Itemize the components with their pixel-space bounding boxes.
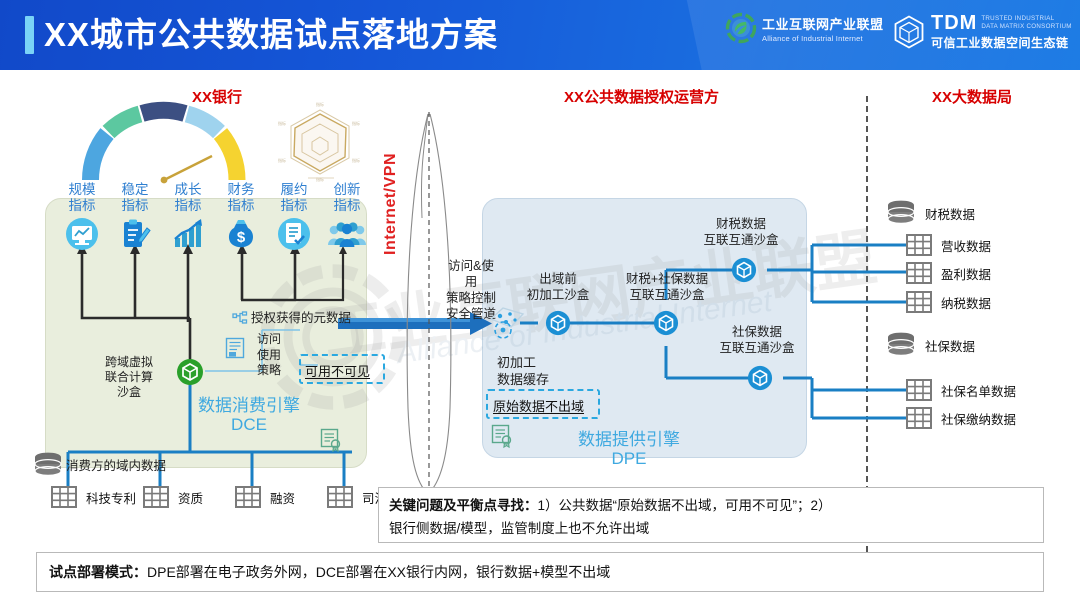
sandbox3-line1: 社保数据 [706,324,808,340]
consumer-domain-data-label: 消费方的域内数据 [66,459,166,474]
sandbox-social-label: 社保数据 互联互通沙盒 [706,324,808,356]
monitor-chart-icon [55,216,109,252]
bureau-table-label-0-0: 营收数据 [941,236,991,255]
indicator-scale-line1: 规模 [55,182,109,198]
logo-alliance-of-industrial-internet: 工业互联网产业联盟 Alliance of Industrial Interne… [726,13,884,43]
sandbox-fiscal-social-label: 财税+社保数据 互联互通沙盒 [612,271,722,303]
key-issues-label: 关键问题及平衡点寻找： [389,498,538,513]
data-node-network-icon [488,305,526,341]
gauge-chart [78,104,250,186]
indicator-innovation-line1: 创新 [320,182,374,198]
deployment-mode-label: 试点部署模式： [49,564,147,580]
database-icon [886,200,916,226]
indicator-growth-line2: 指标 [161,198,215,214]
indicator-stability-line2: 指标 [108,198,162,214]
sandbox-pre-exit-label: 出域前 初加工沙盒 [512,271,604,303]
dce-engine-label: 数据消费引擎 DCE [198,396,300,434]
table-icon [906,379,932,401]
page-title: XX城市公共数据试点落地方案 [44,9,498,61]
bureau-db-fiscal[interactable]: 财税数据 [886,200,975,226]
cache-line1: 初加工 [497,354,549,371]
metadata-tree-icon [232,311,248,327]
bureau-db-label-0: 财税数据 [925,204,975,223]
consumer-domain-db-icon [33,452,63,478]
sandbox2-line1: 财税数据 [690,216,792,232]
preprocess-cache-label: 初加工 数据缓存 [497,354,549,388]
cache-line2: 数据缓存 [497,371,549,388]
bureau-table-revenue[interactable]: 营收数据 [906,234,991,256]
bureau-table-social-roster[interactable]: 社保名单数据 [906,379,1016,401]
database-icon [886,332,916,358]
dpe-certificate-icon [491,424,513,448]
bureau-table-social-payment[interactable]: 社保缴纳数据 [906,407,1016,429]
policy-line1: 访问 [249,332,289,348]
bureau-table-label-0-1: 盈利数据 [941,264,991,283]
svg-text:指标: 指标 [352,157,360,163]
page-header: XX城市公共数据试点落地方案 工业互联网产业联盟 Alliance of Ind… [0,0,1080,70]
bureau-table-tax[interactable]: 纳税数据 [906,291,991,313]
money-bag-icon: $ [214,216,268,252]
sandbox-label-line1: 跨域虚拟 [88,355,170,370]
sandbox-social-icon[interactable] [747,365,773,391]
sandbox-fiscal-social-icon[interactable] [653,310,679,336]
svg-text:$: $ [237,229,246,246]
clipboard-pen-icon [108,216,162,252]
policy-line2: 使用 [249,348,289,364]
dpe-engine-en: DPE [578,449,680,468]
table-icon [51,486,77,508]
bureau-table-label-1-0: 社保名单数据 [941,381,1016,400]
cross-domain-sandbox-label: 跨域虚拟 联合计算 沙盒 [88,355,170,400]
section-title-bureau: XX大数据局 [932,86,1012,107]
dpe-engine-label: 数据提供引擎 DPE [578,430,680,468]
deployment-mode-box: 试点部署模式：DPE部署在电子政务外网，DCE部署在XX银行内网，银行数据+模型… [36,552,1044,592]
dpe-engine-cn: 数据提供引擎 [578,430,680,449]
dce-engine-en: DCE [198,415,300,434]
bank-table-qualification[interactable]: 资质 [143,486,203,508]
bank-table-label-0: 科技专利 [86,488,136,507]
section-title-operator: XX公共数据授权运营方 [564,86,719,107]
sandbox-fiscal-icon[interactable] [731,257,757,283]
usable-invisible-callout-text: 可用不可见 [305,361,370,380]
aii-gear-leaf-icon [726,13,756,43]
indicator-innovation-line2: 指标 [320,198,374,214]
indicator-finance[interactable]: 财务 指标 $ [214,182,268,252]
table-icon [906,407,932,429]
policy-line3: 策略 [249,363,289,379]
svg-text:指标: 指标 [316,101,324,107]
tdm-en-line2: DATA MATRIX CONSORTIUM [981,23,1071,31]
raw-data-no-exit-callout-text: 原始数据不出域 [493,396,584,415]
indicator-stability[interactable]: 稳定 指标 [108,182,162,252]
indicator-compliance[interactable]: 履约 指标 [267,182,321,252]
vpn-policy-line1: 访问&使 [440,258,502,274]
document-check-icon [267,216,321,252]
table-icon [906,234,932,256]
key-issues-line2: 银行侧数据/模型，监管制度上也不允许出域 [389,517,1033,540]
svg-text:指标: 指标 [352,120,360,126]
title-accent-bar [25,16,34,54]
bank-table-financing[interactable]: 融资 [235,486,295,508]
sandbox0-line2: 初加工沙盒 [512,287,604,303]
bar-growth-icon [161,216,215,252]
bureau-db-label-1: 社保数据 [925,336,975,355]
bank-table-label-2: 融资 [270,488,295,507]
sandbox-fiscal-label: 财税数据 互联互通沙盒 [690,216,792,248]
authorized-metadata-label: 授权获得的元数据 [251,311,351,326]
sandbox-pre-exit-icon[interactable] [545,310,571,336]
aii-logo-cn-text: 工业互联网产业联盟 [762,14,884,33]
vpn-policy-line3: 策略控制 [440,290,502,306]
sandbox-label-line3: 沙盒 [88,385,170,400]
internet-vpn-label: Internet/VPN [382,153,400,255]
sandbox0-line1: 出域前 [512,271,604,287]
policy-document-icon [225,337,245,359]
tdm-hex-cube-icon [893,15,925,49]
indicator-scale[interactable]: 规模 指标 [55,182,109,252]
aii-logo-en-text: Alliance of Industrial Internet [762,34,884,43]
table-icon [143,486,169,508]
people-group-icon [320,216,374,252]
radar-chart: 指标指标 指标指标 指标指标 [272,100,368,186]
access-use-policy-label: 访问 使用 策略 [249,332,289,379]
table-icon [235,486,261,508]
dce-sandbox-icon[interactable] [176,358,204,386]
bureau-table-label-1-1: 社保缴纳数据 [941,409,1016,428]
key-issues-note-box: 关键问题及平衡点寻找：1）公共数据“原始数据不出域，可用不可见”；2） 银行侧数… [378,487,1044,543]
key-issues-text1: 1）公共数据“原始数据不出域，可用不可见”；2） [538,498,832,513]
dce-certificate-icon [320,428,342,452]
indicator-stability-line1: 稳定 [108,182,162,198]
tdm-en-line1: TRUSTED INDUSTRIAL [981,15,1071,23]
table-icon [327,486,353,508]
svg-text:指标: 指标 [278,120,286,126]
logo-tdm: TDM TRUSTED INDUSTRIAL DATA MATRIX CONSO… [893,13,1072,51]
vpn-policy-line2: 用 [440,274,502,290]
dce-engine-cn: 数据消费引擎 [198,396,300,415]
bureau-table-label-0-2: 纳税数据 [941,293,991,312]
deployment-mode-text: DPE部署在电子政务外网，DCE部署在XX银行内网，银行数据+模型不出域 [147,564,610,580]
table-icon [906,262,932,284]
indicator-growth-line1: 成长 [161,182,215,198]
svg-text:指标: 指标 [278,157,286,163]
indicator-finance-line1: 财务 [214,182,268,198]
sandbox2-line2: 互联互通沙盒 [690,232,792,248]
table-icon [906,291,932,313]
bureau-db-social[interactable]: 社保数据 [886,332,975,358]
sandbox1-line1: 财税+社保数据 [612,271,722,287]
indicator-compliance-line2: 指标 [267,198,321,214]
sandbox3-line2: 互联互通沙盒 [706,340,808,356]
bank-table-label-1: 资质 [178,488,203,507]
indicator-innovation[interactable]: 创新 指标 [320,182,374,252]
indicator-finance-line2: 指标 [214,198,268,214]
bureau-table-profit[interactable]: 盈利数据 [906,262,991,284]
tdm-wordmark: TDM [931,13,977,33]
deployment-mode-line: 试点部署模式：DPE部署在电子政务外网，DCE部署在XX银行内网，银行数据+模型… [49,562,610,582]
key-issues-line1: 关键问题及平衡点寻找：1）公共数据“原始数据不出域，可用不可见”；2） [389,494,1033,517]
bank-table-tech-patent[interactable]: 科技专利 [51,486,136,508]
indicator-compliance-line1: 履约 [267,182,321,198]
tdm-logo-cn-text: 可信工业数据空间生态链 [931,34,1072,51]
sandbox-label-line2: 联合计算 [88,370,170,385]
sandbox1-line2: 互联互通沙盒 [612,287,722,303]
indicator-scale-line2: 指标 [55,198,109,214]
indicator-growth[interactable]: 成长 指标 [161,182,215,252]
